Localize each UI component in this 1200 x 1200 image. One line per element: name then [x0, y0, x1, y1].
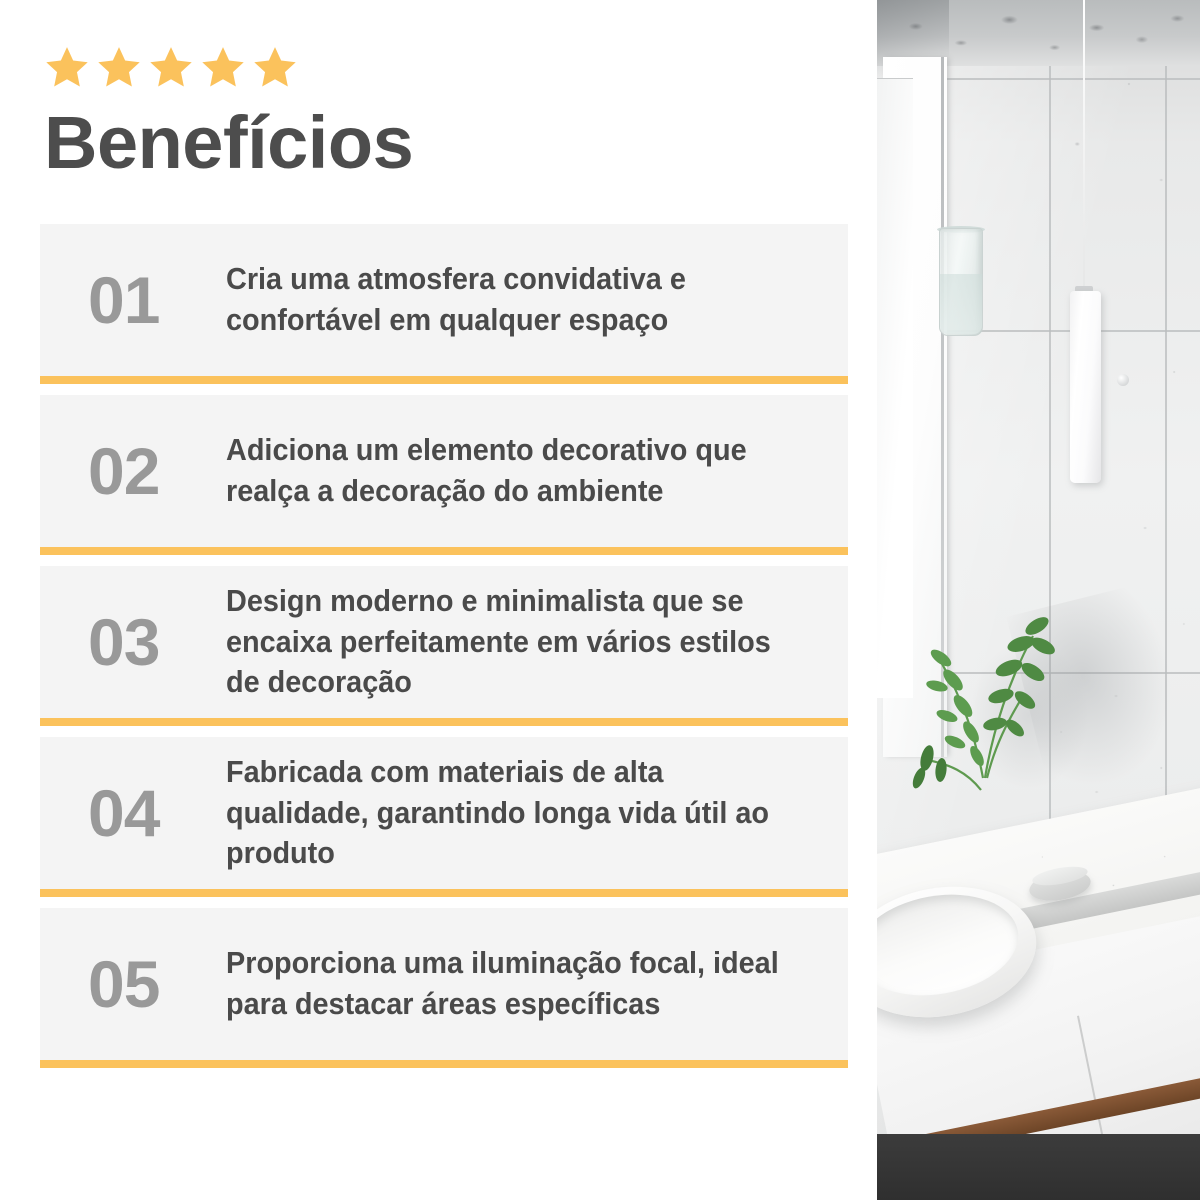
benefit-number: 05 [88, 951, 226, 1017]
product-photo [877, 0, 1200, 1200]
benefit-spacer [40, 897, 848, 908]
benefit-number: 04 [88, 780, 226, 846]
pendant-lamp [1070, 291, 1101, 483]
benefit-divider [40, 547, 848, 555]
wall-fixture-icon [1117, 374, 1129, 386]
benefit-item: 03 Design moderno e minimalista que se e… [40, 566, 848, 718]
floor [877, 1134, 1200, 1200]
content-panel: Benefícios 01 Cria uma atmosfera convida… [0, 0, 877, 1200]
benefits-poster: Benefícios 01 Cria uma atmosfera convida… [0, 0, 1200, 1200]
benefit-number: 01 [88, 267, 226, 333]
benefit-spacer [40, 384, 848, 395]
benefit-item: 01 Cria uma atmosfera convidativa e conf… [40, 224, 848, 376]
benefit-divider [40, 376, 848, 384]
benefit-text: Cria uma atmosfera convidativa e confort… [226, 259, 786, 340]
benefit-text: Adiciona um elemento decorativo que real… [226, 430, 786, 511]
star-icon [148, 44, 194, 90]
benefit-divider [40, 718, 848, 726]
star-icon [200, 44, 246, 90]
page-title: Benefícios [44, 104, 845, 182]
star-rating [44, 44, 845, 90]
benefit-spacer [40, 555, 848, 566]
benefits-list: 01 Cria uma atmosfera convidativa e conf… [40, 224, 848, 1068]
benefit-text: Design moderno e minimalista que se enca… [226, 581, 786, 702]
benefit-divider [40, 889, 848, 897]
benefit-text: Fabricada com materiais de alta qualidad… [226, 752, 786, 873]
benefit-number: 03 [88, 609, 226, 675]
star-icon [44, 44, 90, 90]
benefit-divider [40, 1060, 848, 1068]
benefit-spacer [40, 726, 848, 737]
pendant-cord [1083, 0, 1085, 290]
star-icon [252, 44, 298, 90]
benefit-text: Proporciona uma iluminação focal, ideal … [226, 943, 786, 1024]
benefit-item: 04 Fabricada com materiais de alta quali… [40, 737, 848, 889]
benefit-number: 02 [88, 438, 226, 504]
benefit-item: 02 Adiciona um elemento decorativo que r… [40, 395, 848, 547]
vase-water [940, 274, 982, 334]
benefit-item: 05 Proporciona uma iluminação focal, ide… [40, 908, 848, 1060]
star-icon [96, 44, 142, 90]
